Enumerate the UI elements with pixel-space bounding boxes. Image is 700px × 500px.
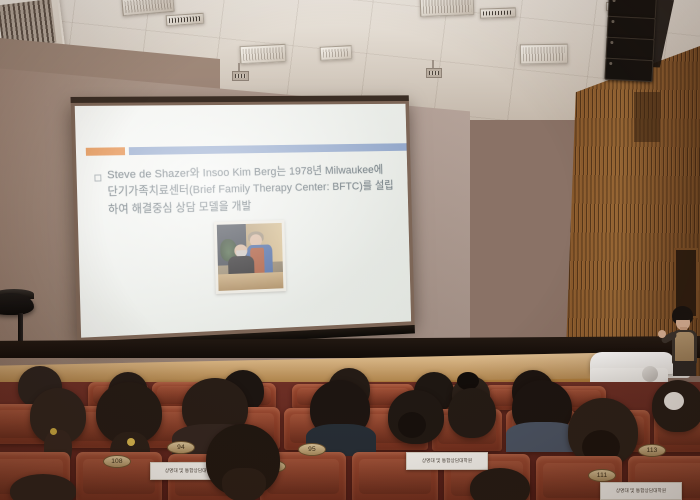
slide-content: Steve de Shazer와 Insoo Kim Berg는 1978년 M… bbox=[76, 151, 410, 300]
ceiling-light-panel-4 bbox=[520, 44, 568, 65]
audience-hair-bun bbox=[664, 392, 684, 410]
audience-ponytail bbox=[222, 468, 266, 500]
ceiling-light-panel-5 bbox=[320, 45, 353, 61]
seat-number-plate: 95 bbox=[298, 443, 326, 456]
seat-number-plate: 111 bbox=[588, 469, 616, 482]
hair-clip bbox=[50, 428, 57, 435]
slide-photo bbox=[214, 220, 286, 294]
presenter bbox=[660, 306, 700, 376]
presenter-hand bbox=[658, 330, 666, 338]
slide-bullet-text: Steve de Shazer와 Insoo Kim Berg는 1978년 M… bbox=[107, 162, 394, 219]
projector-mount-2 bbox=[232, 71, 249, 81]
presenter-fringe bbox=[673, 312, 692, 320]
presenter-lower-body bbox=[673, 361, 696, 376]
piano-leg bbox=[18, 313, 23, 345]
audience-head bbox=[470, 468, 530, 500]
slide-title-area bbox=[75, 104, 407, 148]
seat-reservation-sign: 상명대 및 통합상담대학원 bbox=[600, 482, 682, 500]
presenter-vest bbox=[675, 332, 694, 362]
slide-photo-image bbox=[217, 223, 284, 291]
audience-hair-bun bbox=[398, 412, 426, 438]
line-array-speaker bbox=[597, 0, 665, 108]
seat-number-plate: 108 bbox=[103, 455, 131, 468]
lectern-knob bbox=[642, 366, 658, 382]
photo-table bbox=[218, 271, 283, 291]
speaker-module-4 bbox=[604, 58, 653, 82]
audience-head bbox=[448, 388, 496, 438]
screen-top-bar bbox=[71, 95, 409, 103]
seat-reservation-sign: 상명대 및 통합상담대학원 bbox=[406, 452, 488, 470]
ceiling-vent-2 bbox=[480, 7, 516, 18]
square-bullet-icon bbox=[94, 174, 101, 181]
ceiling-light-panel-3 bbox=[420, 0, 475, 17]
hair-clip bbox=[127, 438, 135, 446]
slide-bullet-item: Steve de Shazer와 Insoo Kim Berg는 1978년 M… bbox=[94, 162, 394, 219]
seat-number-plate: 113 bbox=[638, 444, 666, 457]
presentation-slide: Steve de Shazer와 Insoo Kim Berg는 1978년 M… bbox=[75, 104, 411, 338]
audience-head bbox=[10, 474, 76, 500]
ceiling-light-panel-2 bbox=[240, 44, 287, 64]
seat-number-plate: 94 bbox=[167, 441, 195, 454]
lecture-hall-photo: Steve de Shazer와 Insoo Kim Berg는 1978년 M… bbox=[0, 0, 700, 500]
projector-mount-3 bbox=[426, 68, 442, 78]
projection-screen: Steve de Shazer와 Insoo Kim Berg는 1978년 M… bbox=[71, 100, 415, 344]
